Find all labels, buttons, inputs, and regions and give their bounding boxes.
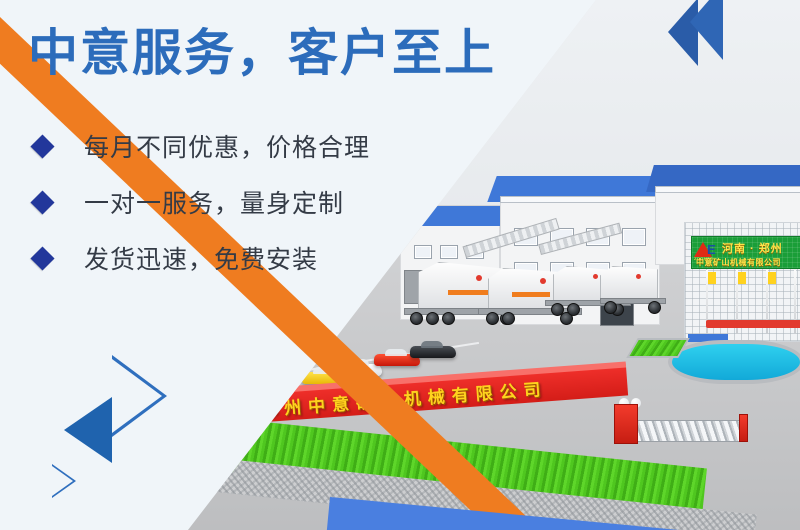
wheel bbox=[486, 312, 499, 325]
bullet-text: 一对一服务，量身定制 bbox=[84, 184, 344, 220]
diamond-bullet-icon bbox=[30, 246, 54, 270]
wheel bbox=[551, 303, 564, 316]
wheel bbox=[648, 301, 661, 314]
flag bbox=[738, 272, 746, 284]
triangle-solid-icon bbox=[64, 397, 112, 463]
machine-light bbox=[636, 274, 641, 279]
machine-light bbox=[593, 274, 598, 279]
machine-light bbox=[476, 275, 482, 281]
machine-stripe bbox=[512, 292, 550, 297]
sign-line-2: 中意矿山机械有限公司 bbox=[696, 257, 781, 268]
diamond-bullet-icon bbox=[30, 134, 54, 158]
wheel bbox=[604, 301, 617, 314]
feature-bullet-list: 每月不同优惠，价格合理 一对一服务，量身定制 发货迅速，免费安装 bbox=[34, 118, 370, 286]
chevron-left-icon-front bbox=[690, 0, 723, 60]
wall-end-pillar bbox=[614, 404, 638, 444]
flag bbox=[708, 272, 716, 284]
window bbox=[414, 245, 432, 259]
bullet-text: 每月不同优惠，价格合理 bbox=[84, 128, 370, 164]
flag bbox=[768, 272, 776, 284]
bullet-text: 发货迅速，免费安装 bbox=[84, 240, 318, 276]
banner-headline: 中意服务，客户至上 bbox=[28, 24, 496, 82]
company-name-sign-green: E ZOOMJO 河南 · 郑州 中意矿山机械有限公司 bbox=[691, 236, 800, 269]
roof-vent-band bbox=[500, 196, 660, 203]
wheel bbox=[442, 312, 455, 325]
triangle-outline-large-inner bbox=[112, 359, 162, 433]
wheel bbox=[410, 312, 423, 325]
logo-letter-icon: E bbox=[707, 243, 716, 256]
retractable-gate bbox=[635, 420, 743, 442]
machine-body bbox=[600, 266, 658, 300]
diamond-bullet-icon bbox=[30, 190, 54, 214]
wheel bbox=[567, 303, 580, 316]
decorative-red-banner bbox=[706, 320, 800, 328]
machine-light bbox=[540, 278, 546, 284]
bullet-item: 发货迅速，免费安装 bbox=[34, 230, 370, 286]
wheel bbox=[426, 312, 439, 325]
roof-vent-band bbox=[655, 186, 800, 193]
window bbox=[440, 245, 458, 259]
machine-stripe bbox=[448, 290, 488, 295]
roof-far-left bbox=[390, 206, 510, 226]
car-window bbox=[385, 349, 407, 356]
car-window bbox=[421, 341, 443, 348]
bullet-item: 每月不同优惠，价格合理 bbox=[34, 118, 370, 174]
bullet-item: 一对一服务，量身定制 bbox=[34, 174, 370, 230]
wheel bbox=[502, 312, 515, 325]
promotional-banner: E ZOOMJO 河南 · 郑州 中意矿山机械有限公司 bbox=[0, 0, 800, 530]
gate-post-right bbox=[739, 414, 748, 442]
sign-line-1: 河南 · 郑州 bbox=[722, 240, 783, 256]
window bbox=[622, 228, 646, 246]
triangle-outline-small-inner bbox=[52, 466, 73, 496]
fountain-pool bbox=[668, 340, 800, 384]
car-black bbox=[410, 346, 456, 358]
